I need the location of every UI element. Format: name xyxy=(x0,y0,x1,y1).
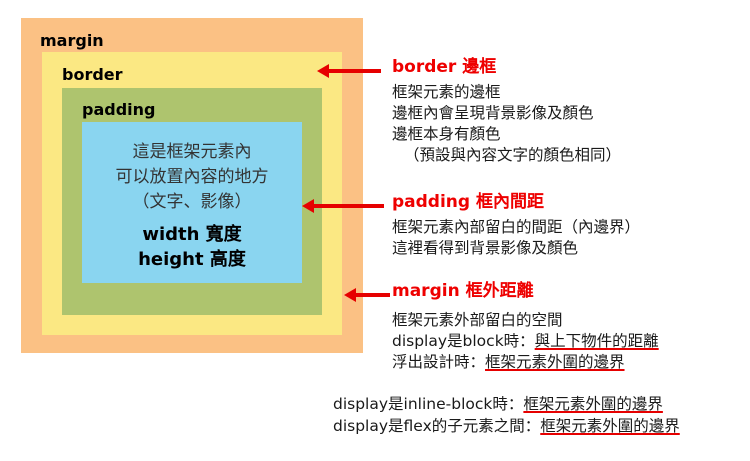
content-height-label: height 高度 xyxy=(82,247,302,272)
border-layer-label: border xyxy=(62,67,123,83)
bottom-note-line-1: display是inline-block時：框架元素外圍的邊界 xyxy=(333,393,680,415)
bottom-note-line-1-underlined: 框架元素外圍的邊界 xyxy=(523,395,663,413)
content-dimensions: width 寬度 height 高度 xyxy=(82,222,302,272)
content-line-2: 可以放置內容的地方 xyxy=(82,165,302,190)
content-line-3: （文字、影像） xyxy=(82,190,302,215)
arrow-shaft xyxy=(311,204,384,208)
box-model-diagram: margin border padding 這是框架元素內 可以放置內容的地方 … xyxy=(21,18,363,353)
bottom-note-line-1-prefix: display是inline-block時： xyxy=(333,395,523,413)
bottom-notes: display是inline-block時：框架元素外圍的邊界 display是… xyxy=(333,393,680,437)
annotation-border-title: border 邊框 xyxy=(392,57,621,77)
annotation-border-line-2: 邊框內會呈現背景影像及顏色 xyxy=(392,103,621,124)
annotation-border: border 邊框 框架元素的邊框 邊框內會呈現背景影像及顏色 邊框本身有顏色 … xyxy=(392,57,621,166)
annotation-border-line-3: 邊框本身有顏色 xyxy=(392,124,621,145)
arrow-left-icon-border xyxy=(317,64,381,78)
arrow-left-icon-padding xyxy=(302,199,384,213)
bottom-note-line-2-prefix: display是flex的子元素之間： xyxy=(333,417,540,435)
content-layer: 這是框架元素內 可以放置內容的地方 （文字、影像） width 寬度 heigh… xyxy=(82,122,302,283)
margin-layer-label: margin xyxy=(40,33,104,49)
content-width-label: width 寬度 xyxy=(82,222,302,247)
annotation-padding-line-2: 這裡看得到背景影像及顏色 xyxy=(392,238,640,259)
annotation-padding-line-1: 框架元素內部留白的間距（內邊界） xyxy=(392,217,640,238)
content-line-1: 這是框架元素內 xyxy=(82,140,302,165)
padding-layer-label: padding xyxy=(82,102,155,118)
annotation-margin-line-2-prefix: display是block時： xyxy=(392,332,535,350)
arrow-shaft xyxy=(353,293,390,297)
annotation-margin-line-3-prefix: 浮出設計時： xyxy=(392,353,485,371)
arrow-shaft xyxy=(326,69,381,73)
annotation-margin-line-3: 浮出設計時：框架元素外圍的邊界 xyxy=(392,352,659,373)
annotation-margin-line-2-underlined: 與上下物件的距離 xyxy=(535,332,659,350)
annotation-margin: margin 框外距離 框架元素外部留白的空間 display是block時：與… xyxy=(392,281,659,373)
bottom-note-line-2-underlined: 框架元素外圍的邊界 xyxy=(540,417,680,435)
annotation-margin-line-3-underlined: 框架元素外圍的邊界 xyxy=(485,353,625,371)
annotation-padding-body: 框架元素內部留白的間距（內邊界） 這裡看得到背景影像及顏色 xyxy=(392,217,640,259)
bottom-note-line-2: display是flex的子元素之間：框架元素外圍的邊界 xyxy=(333,415,680,437)
content-description: 這是框架元素內 可以放置內容的地方 （文字、影像） xyxy=(82,140,302,215)
annotation-border-line-1: 框架元素的邊框 xyxy=(392,82,621,103)
annotation-margin-body: 框架元素外部留白的空間 display是block時：與上下物件的距離 浮出設計… xyxy=(392,310,659,373)
annotation-padding-title: padding 框內間距 xyxy=(392,192,640,212)
annotation-border-body: 框架元素的邊框 邊框內會呈現背景影像及顏色 邊框本身有顏色 （預設與內容文字的顏… xyxy=(392,82,621,166)
annotation-margin-line-2: display是block時：與上下物件的距離 xyxy=(392,331,659,352)
annotation-border-line-4: （預設與內容文字的顏色相同） xyxy=(392,145,621,166)
annotation-margin-title: margin 框外距離 xyxy=(392,281,659,301)
annotation-padding: padding 框內間距 框架元素內部留白的間距（內邊界） 這裡看得到背景影像及… xyxy=(392,192,640,259)
arrow-left-icon-margin xyxy=(344,288,390,302)
annotation-margin-line-1: 框架元素外部留白的空間 xyxy=(392,310,659,331)
